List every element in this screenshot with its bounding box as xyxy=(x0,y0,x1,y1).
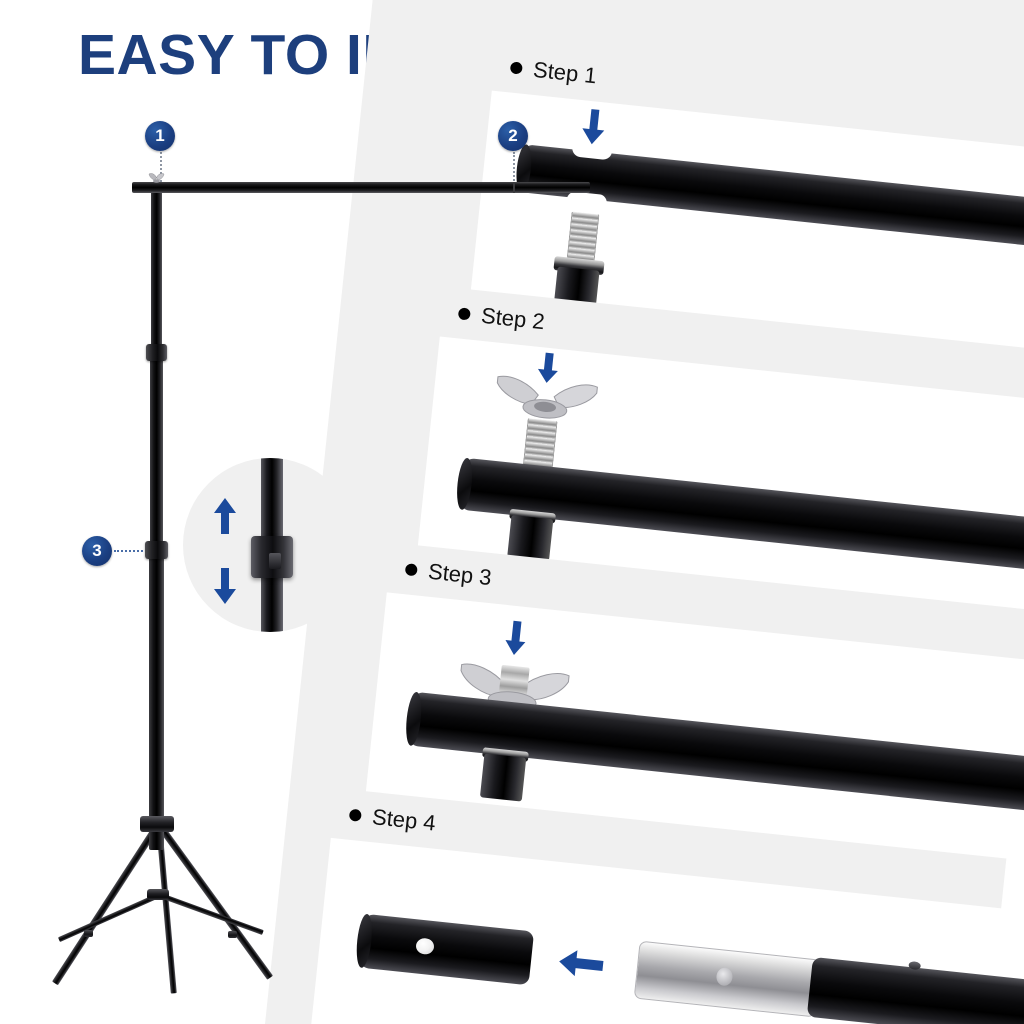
pole-section-middle xyxy=(150,350,163,554)
bullet-icon xyxy=(510,61,523,74)
threaded-screw xyxy=(523,418,558,471)
down-arrow-icon xyxy=(211,566,239,606)
up-arrow-icon xyxy=(211,496,239,536)
step-3-text: Step 3 xyxy=(427,559,493,592)
step-4-label: Step 4 xyxy=(348,802,437,837)
step-2-label: Step 2 xyxy=(457,300,546,335)
step-1-label: Step 1 xyxy=(509,54,598,89)
threaded-screw xyxy=(567,212,600,263)
step-3-card xyxy=(366,592,1024,863)
callout-badge-3: 3 xyxy=(82,536,112,566)
bullet-icon xyxy=(349,809,362,822)
brace-joint-right xyxy=(228,931,237,938)
crossbar xyxy=(132,182,590,193)
down-arrow-icon xyxy=(575,106,613,149)
step-1-text: Step 1 xyxy=(532,57,598,90)
step-3-label: Step 3 xyxy=(404,556,493,591)
pole-clamp-upper xyxy=(146,344,167,361)
callout-badge-2: 2 xyxy=(498,121,528,151)
magnified-clamp-knob xyxy=(269,553,281,569)
left-arrow-icon xyxy=(556,946,607,981)
step-2-text: Step 2 xyxy=(480,303,546,336)
screw-barrel xyxy=(480,753,526,801)
tripod-brace-hub xyxy=(147,889,169,900)
step-4-text: Step 4 xyxy=(371,804,437,837)
step-4-card xyxy=(310,838,1024,1024)
height-adjust-magnifier xyxy=(183,458,357,632)
crossbar-wing-nut-icon xyxy=(148,172,165,184)
steps-panel-inner: Step 1 Step 2 xyxy=(258,0,1024,1024)
brace-joint-left xyxy=(84,930,93,937)
pole-section-bottom xyxy=(149,550,164,850)
tripod-hub xyxy=(140,816,174,832)
callout-badge-1: 1 xyxy=(145,121,175,151)
bullet-icon xyxy=(458,307,471,320)
pole-section-top xyxy=(151,188,162,354)
step-1-card xyxy=(471,91,1024,357)
crossbar-joint xyxy=(513,182,515,193)
pole-height-clamp xyxy=(145,541,168,559)
wing-nut-icon xyxy=(490,370,602,427)
bullet-icon xyxy=(405,563,418,576)
screw-barrel xyxy=(553,266,600,316)
infographic-canvas: Step 1 Step 2 xyxy=(0,0,1024,1024)
tube-with-hole xyxy=(359,914,534,985)
step-2-card xyxy=(418,336,1024,614)
steps-panel: Step 1 Step 2 xyxy=(258,0,1024,1024)
screw-barrel xyxy=(507,515,553,561)
down-arrow-icon xyxy=(499,619,533,660)
